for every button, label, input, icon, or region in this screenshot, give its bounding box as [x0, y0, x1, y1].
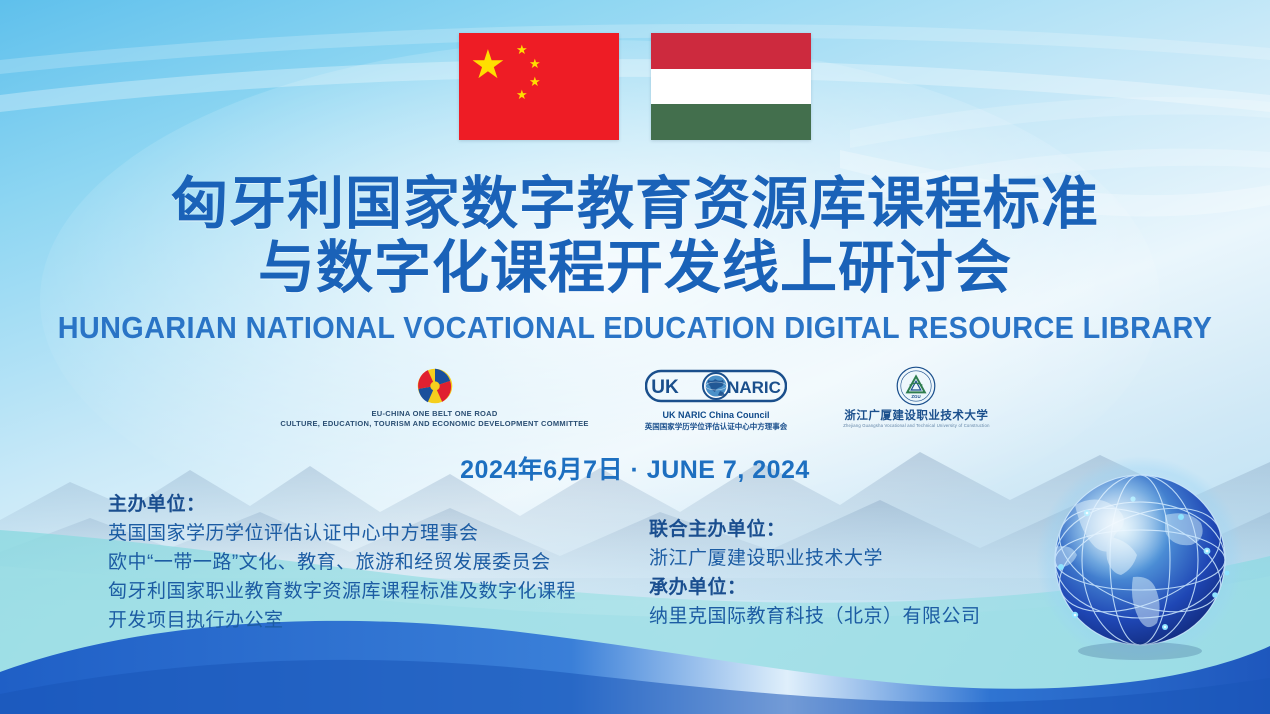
hungary-flag-white-band	[651, 69, 811, 105]
host-organizer-line: 纳里克国际教育科技（北京）有限公司	[649, 602, 981, 631]
co-organizer-line: 浙江广厦建设职业技术大学	[649, 544, 981, 573]
title-block: 匈牙利国家数字教育资源库课程标准 与数字化课程开发线上研讨会 HUNGARIAN…	[0, 172, 1270, 346]
title-line-1: 匈牙利国家数字教育资源库课程标准	[0, 172, 1270, 236]
organizers-left-line-2: 欧中“一带一路”文化、教育、旅游和经贸发展委员会	[108, 548, 576, 577]
logo-strip: EU-CHINA ONE BELT ONE ROAD CULTURE, EDUC…	[0, 366, 1270, 432]
organizers-left-block: 主办单位： 英国国家学历学位评估认证中心中方理事会 欧中“一带一路”文化、教育、…	[108, 490, 576, 635]
pinwheel-logo-icon	[417, 366, 453, 406]
flag-row: ★ ★ ★ ★ ★	[0, 33, 1270, 140]
china-flag-big-star: ★	[470, 45, 506, 85]
logo-uk-naric-caption: UK NARIC China Council 英国国家学历学位评估认证中心中方理…	[645, 409, 788, 432]
svg-text:NARIC: NARIC	[727, 378, 781, 397]
china-flag-small-star-4: ★	[516, 88, 528, 101]
poster-canvas: ★ ★ ★ ★ ★ 匈牙利国家数字教育资源库课程标准 与数字化课程开发线上研讨会…	[0, 0, 1270, 714]
co-organizer-heading: 联合主办单位：	[649, 515, 981, 544]
logo-eu-china-caption: EU-CHINA ONE BELT ONE ROAD CULTURE, EDUC…	[280, 409, 588, 429]
logo-zhejiang-guangsha: ZGU 浙江广厦建设职业技术大学 Zhejiang Guangsha Vocat…	[843, 366, 989, 429]
china-flag: ★ ★ ★ ★ ★	[459, 33, 619, 140]
china-flag-small-star-3: ★	[529, 75, 541, 88]
organizers-left-line-4: 开发项目执行办公室	[108, 606, 576, 635]
network-globe-graphic	[1015, 455, 1265, 685]
title-line-2: 与数字化课程开发线上研讨会	[0, 236, 1270, 300]
zhejiang-guangsha-university-logo-icon: ZGU	[896, 366, 936, 406]
logo-uk-naric-caption-en: UK NARIC China Council	[645, 409, 788, 421]
organizers-left-heading: 主办单位：	[108, 490, 576, 519]
logo-eu-china-caption-line1: EU-CHINA ONE BELT ONE ROAD	[280, 409, 588, 419]
logo-uk-naric: UK NARIC UK NARIC China Council 英国国家学历学位…	[645, 366, 788, 432]
uk-naric-globe-logo-icon: UK NARIC	[645, 366, 787, 406]
svg-text:ZGU: ZGU	[912, 394, 921, 399]
subtitle-english: HUNGARIAN NATIONAL VOCATIONAL EDUCATION …	[44, 310, 1225, 346]
organizers-right-block: 联合主办单位： 浙江广厦建设职业技术大学 承办单位： 纳里克国际教育科技（北京）…	[649, 515, 981, 631]
organizers-left-line-1: 英国国家学历学位评估认证中心中方理事会	[108, 519, 576, 548]
svg-text:UK: UK	[651, 377, 679, 398]
hungary-flag	[651, 33, 811, 140]
logo-uk-naric-caption-cn: 英国国家学历学位评估认证中心中方理事会	[645, 421, 788, 432]
logo-zhejiang-guangsha-caption-rom: Zhejiang Guangsha Vocational and Technic…	[843, 423, 989, 429]
logo-zhejiang-guangsha-caption-cn: 浙江广厦建设职业技术大学	[843, 409, 989, 423]
logo-eu-china-committee: EU-CHINA ONE BELT ONE ROAD CULTURE, EDUC…	[280, 366, 588, 429]
logo-eu-china-caption-line2: CULTURE, EDUCATION, TOURISM AND ECONOMIC…	[280, 419, 588, 429]
host-organizer-heading: 承办单位：	[649, 573, 981, 602]
organizers-left-line-3: 匈牙利国家职业教育数字资源库课程标准及数字化课程	[108, 577, 576, 606]
hungary-flag-green-band	[651, 104, 811, 140]
hungary-flag-red-band	[651, 33, 811, 69]
logo-zhejiang-guangsha-caption: 浙江广厦建设职业技术大学 Zhejiang Guangsha Vocationa…	[843, 409, 989, 429]
china-flag-small-star-1: ★	[516, 43, 528, 56]
china-flag-small-star-2: ★	[529, 57, 541, 70]
